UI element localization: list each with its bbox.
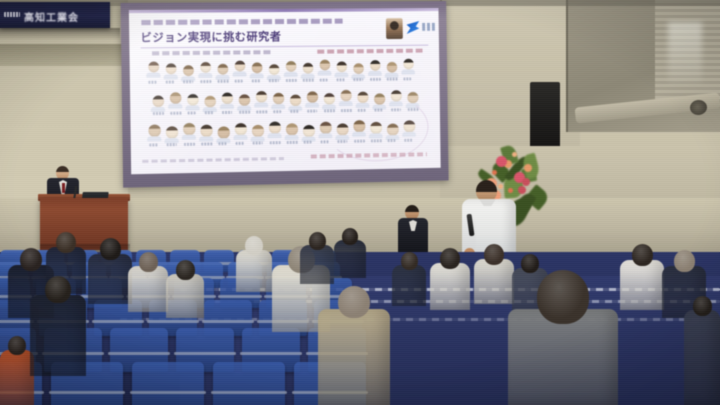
portrait-name-label	[370, 78, 381, 81]
attendee-right-4	[620, 244, 664, 310]
portrait-cell	[168, 93, 183, 114]
portrait-photo	[403, 59, 414, 70]
portrait-name-label	[403, 77, 411, 80]
portrait-cell	[305, 92, 319, 113]
attendee-head	[245, 236, 263, 255]
portrait-name-label	[200, 80, 211, 83]
portrait-cell	[181, 62, 196, 83]
portrait-photo	[302, 63, 313, 74]
attendee-head	[537, 270, 589, 324]
attendee-far-right	[684, 296, 720, 405]
portrait-photo	[289, 95, 301, 107]
portrait-name-label	[256, 110, 268, 113]
portrait-cell	[351, 60, 365, 81]
portrait-shoulders	[401, 69, 415, 74]
portrait-name-label	[273, 110, 281, 113]
portrait-name-label	[387, 78, 399, 81]
portrait-name-label	[290, 110, 299, 113]
attendee-torso	[430, 263, 470, 310]
portrait-name-label	[253, 141, 263, 144]
portrait-name-label	[304, 141, 312, 144]
portrait-photo	[306, 91, 318, 103]
slide-divider	[141, 45, 429, 49]
portrait-photo	[386, 62, 397, 73]
portrait-cell	[216, 124, 230, 145]
portrait-name-label	[269, 79, 279, 82]
portrait-shoulders	[254, 102, 268, 107]
portrait-photo	[200, 62, 211, 73]
portrait-photo	[268, 64, 279, 75]
attendee-torso	[684, 310, 720, 405]
portrait-cell	[199, 124, 213, 145]
portrait-photo	[200, 125, 213, 138]
portrait-photo	[165, 63, 176, 74]
portrait-shoulders	[284, 72, 298, 77]
portrait-shoulders	[146, 73, 160, 78]
portrait-name-label	[148, 81, 156, 84]
hall-name-banner: 高知工業会	[0, 2, 110, 28]
flower-blossom	[492, 170, 497, 175]
attendee-head	[401, 252, 418, 270]
seat-armrest	[202, 320, 254, 323]
banner-shadow	[0, 28, 120, 40]
blue-swoosh-logo-icon	[407, 21, 420, 34]
portrait-cell	[284, 61, 298, 82]
portrait-cell	[249, 61, 263, 82]
portrait-cell	[301, 61, 315, 82]
attendee-center-1	[236, 236, 272, 292]
presenter-tie	[62, 183, 65, 193]
portrait-photo	[152, 96, 164, 108]
portrait-photo	[251, 125, 263, 137]
flower-blossom	[518, 186, 526, 194]
portrait-name-label	[184, 143, 195, 146]
attendee-head	[56, 232, 76, 253]
attendee-head	[100, 238, 121, 260]
slide-footer-left-text	[142, 157, 284, 163]
portrait-cell	[254, 92, 268, 113]
portrait-photo	[323, 93, 334, 105]
portrait-photo	[148, 62, 159, 73]
attendee-torso	[318, 309, 390, 405]
portrait-row	[146, 60, 415, 84]
logo-wordmark	[422, 23, 437, 31]
portrait-shoulders	[271, 104, 285, 109]
portrait-name-label	[307, 110, 317, 113]
portrait-name-label	[287, 141, 299, 144]
portrait-shoulders	[185, 105, 199, 110]
portrait-photo	[204, 96, 216, 108]
portrait-shoulders	[220, 104, 234, 109]
attendee-head	[632, 244, 653, 266]
slide-logo-group	[386, 16, 437, 42]
portrait-cell	[151, 94, 166, 115]
portrait-cell	[385, 60, 399, 81]
attendee-head	[176, 260, 195, 280]
attendee-head	[309, 232, 326, 250]
presentation-slide: ビジョン実現に挑む研究者	[129, 8, 441, 174]
portrait-cell	[368, 60, 382, 81]
portrait-cell	[202, 93, 216, 114]
attendee-lower-left	[30, 276, 86, 376]
attendee-head	[338, 286, 370, 318]
portrait-cell	[220, 93, 234, 114]
portrait-name-label	[153, 112, 164, 115]
flower-blossom	[496, 156, 507, 167]
portrait-cell	[146, 62, 161, 83]
attendee-torso	[0, 350, 34, 405]
seat-armrest	[49, 391, 125, 394]
portrait-photo	[221, 93, 233, 105]
seat-armrest	[108, 352, 170, 355]
portrait-logo-icon	[386, 18, 403, 39]
seat-armrest	[0, 320, 34, 323]
portrait-name-label	[183, 80, 193, 83]
seat-row-6-seat	[213, 362, 285, 405]
portrait-name-label	[286, 79, 297, 82]
portrait-photo	[148, 125, 161, 138]
portrait-photo	[182, 65, 193, 76]
attendee-center-5	[392, 252, 426, 306]
portrait-shoulders	[318, 70, 332, 75]
slide-header-right-text	[317, 49, 425, 54]
portrait-shoulders	[168, 104, 182, 109]
attendee-head	[484, 244, 504, 265]
attendee-torso	[30, 295, 86, 376]
attendee-center-4	[334, 228, 366, 278]
portrait-cell	[163, 62, 178, 83]
seat-armrest	[174, 352, 236, 355]
attendee-mid-left-1	[166, 260, 204, 318]
attendee-head	[674, 250, 695, 272]
portrait-photo	[165, 126, 178, 139]
attendee-torso	[300, 245, 334, 284]
portrait-cell	[250, 123, 264, 144]
seat-armrest	[211, 391, 287, 394]
portrait-cell	[267, 123, 281, 144]
portrait-shoulders	[198, 73, 212, 78]
slide-header-left-text	[152, 50, 271, 55]
portrait-photo	[251, 62, 262, 73]
staff-figure	[398, 205, 428, 251]
portrait-cell	[267, 61, 281, 82]
portrait-name-label	[353, 78, 363, 81]
wall-seam	[566, 0, 568, 132]
portrait-cell	[185, 93, 200, 114]
portrait-photo	[187, 94, 199, 106]
portrait-shoulders	[250, 73, 264, 78]
attendee-torso	[392, 265, 426, 306]
portrait-name-label	[201, 142, 213, 145]
attendee-head	[20, 248, 42, 271]
attendee-back-left-4	[128, 252, 168, 312]
attendee-head	[440, 248, 460, 269]
attendee-back-left-3	[88, 238, 132, 304]
seat-armrest	[92, 320, 144, 323]
portrait-cell	[182, 125, 197, 146]
portrait-shoulders	[233, 135, 247, 140]
flower-blossom	[524, 164, 532, 172]
portrait-cell	[232, 61, 246, 82]
portrait-name-label	[222, 111, 232, 114]
attendee-center-3	[300, 232, 334, 284]
portrait-photo	[217, 126, 230, 139]
portrait-photo	[336, 62, 347, 73]
portrait-photo	[169, 92, 181, 104]
portrait-cell	[288, 92, 302, 113]
seat-armrest	[130, 391, 206, 394]
attendee-torso	[128, 266, 168, 312]
attendee-head	[45, 276, 71, 303]
attendee-torso	[334, 240, 366, 278]
portrait-name-label	[170, 112, 182, 115]
portrait-photo	[182, 123, 195, 136]
portrait-cell	[164, 125, 179, 146]
portrait-name-label	[205, 111, 214, 114]
left-wall-band	[0, 44, 130, 66]
attendee-torso	[166, 274, 204, 318]
seat-armrest	[218, 295, 262, 298]
portrait-photo	[234, 123, 246, 135]
portrait-shoulders	[164, 74, 178, 79]
portrait-name-label	[270, 141, 281, 144]
attendee-gray-jacket	[508, 270, 618, 405]
portrait-photo	[285, 61, 296, 72]
portrait-cell	[301, 123, 315, 144]
portrait-cell	[271, 92, 285, 113]
attendee-head	[693, 296, 712, 316]
attendee-torso	[236, 250, 272, 292]
seat-armrest	[147, 320, 199, 323]
slide-title: ビジョン実現に挑む研究者	[140, 28, 281, 45]
portrait-photo	[285, 123, 297, 135]
portrait-cell	[215, 62, 229, 83]
portrait-name-label	[320, 78, 328, 81]
flower-blossom	[512, 152, 517, 157]
portrait-photo	[319, 60, 330, 71]
portrait-name-label	[217, 80, 229, 83]
attendee-right-1	[430, 248, 470, 310]
auditorium-photo: ビジョン実現に挑む研究者 高知工業会	[0, 0, 720, 405]
portrait-name-label	[239, 111, 250, 114]
portrait-shoulders	[368, 71, 382, 76]
portrait-name-label	[218, 142, 226, 145]
slide-accent-bar	[129, 8, 439, 13]
portrait-photo	[302, 125, 314, 137]
portrait-shoulders	[147, 136, 161, 141]
attendee-torso	[88, 254, 132, 304]
slide-eyebrow-text	[141, 19, 342, 26]
portrait-name-label	[303, 79, 315, 82]
portrait-name-label	[166, 80, 175, 83]
portrait-name-label	[252, 79, 261, 82]
portrait-name-label	[167, 143, 177, 146]
portrait-name-label	[337, 78, 346, 81]
portrait-shoulders	[268, 133, 282, 138]
window-light-glow	[668, 22, 702, 84]
portrait-shoulders	[305, 103, 319, 108]
banner-badge-icon	[4, 12, 20, 17]
portrait-name-label	[188, 111, 196, 114]
projection-screen: ビジョン実現に挑む研究者	[121, 1, 449, 188]
portrait-cell	[233, 124, 247, 145]
portrait-cell	[401, 60, 415, 81]
portrait-photo	[369, 60, 380, 71]
flower-blossom	[522, 178, 530, 186]
attendee-head	[8, 336, 26, 355]
portrait-photo	[272, 93, 284, 105]
attendee-tan-jacket	[318, 286, 390, 405]
portrait-photo	[217, 64, 228, 75]
banner-text: 高知工業会	[24, 9, 79, 24]
portrait-cell	[237, 93, 251, 114]
portrait-photo	[255, 91, 267, 103]
portrait-photo	[353, 63, 364, 74]
portrait-shoulders	[199, 136, 213, 141]
attendee-head	[139, 252, 158, 272]
portrait-shoulders	[285, 135, 299, 140]
seat-row-6-seat	[132, 362, 204, 405]
wall-speaker	[530, 82, 560, 156]
portrait-cell	[334, 60, 348, 81]
portrait-name-label	[149, 143, 158, 146]
portrait-shoulders	[182, 135, 196, 140]
portrait-cell	[198, 62, 212, 83]
attendee-torso	[620, 260, 664, 310]
attendee-head	[342, 228, 358, 245]
portrait-photo	[268, 122, 280, 134]
portrait-photo	[234, 61, 245, 72]
portrait-shoulders	[334, 72, 348, 77]
portrait-cell	[317, 61, 331, 82]
portrait-cell	[147, 125, 162, 147]
attendee-orange-left	[0, 336, 34, 405]
seat-armrest	[240, 352, 302, 355]
portrait-name-label	[236, 142, 245, 145]
portrait-shoulders	[233, 71, 247, 76]
portrait-cell	[284, 123, 298, 144]
portrait-photo	[238, 94, 250, 106]
portrait-name-label	[235, 80, 243, 83]
